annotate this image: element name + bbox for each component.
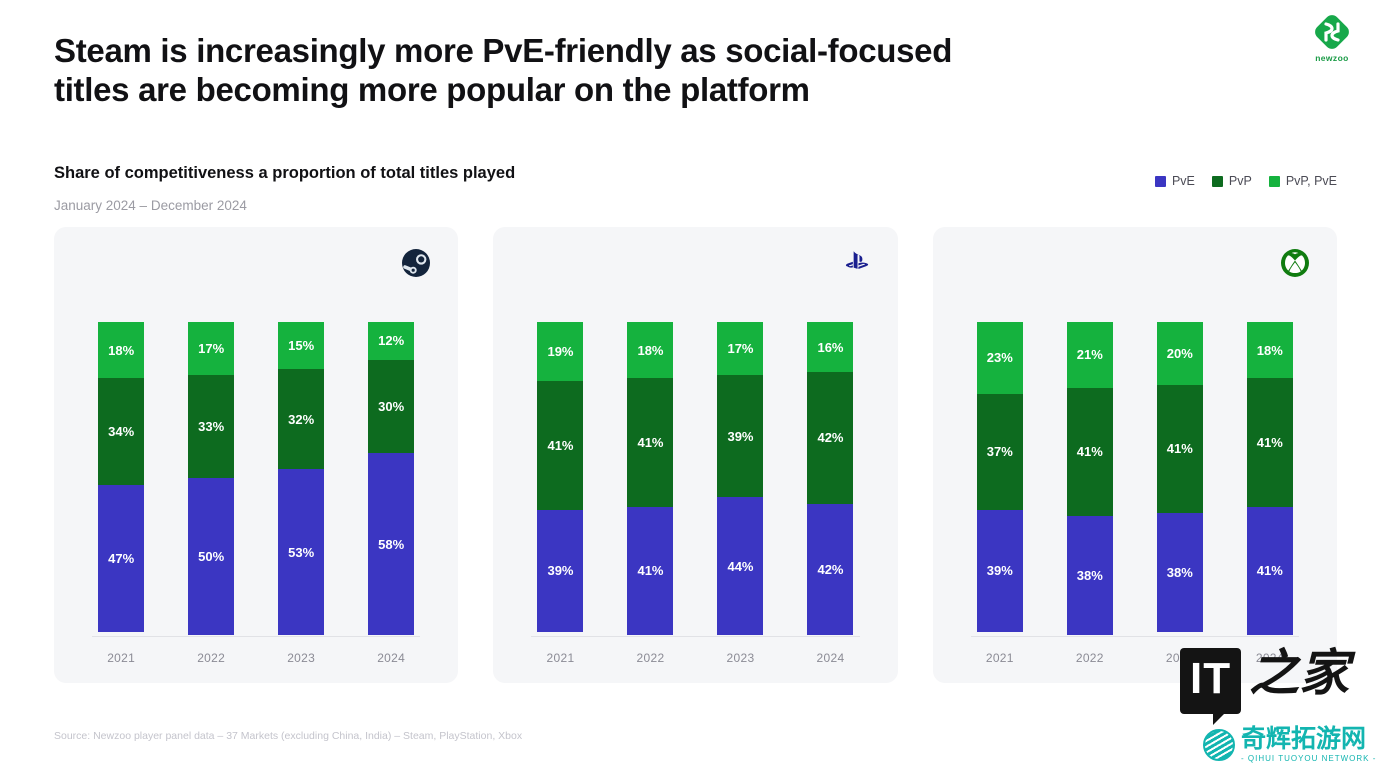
segment-pvp-pve: 23%	[977, 322, 1023, 394]
watermark-zhijia-script: 之家	[1249, 648, 1349, 698]
bar-group[interactable]: 18% 34% 47%	[98, 322, 144, 635]
segment-pve: 39%	[977, 510, 1023, 632]
legend-label: PvP	[1229, 174, 1252, 188]
stacked-bar: 19% 41% 39%	[537, 322, 583, 635]
x-tick-label: 2021	[98, 651, 144, 665]
stacked-bar: 17% 39% 44%	[717, 322, 763, 635]
x-tick-label: 2022	[627, 651, 673, 665]
segment-pve: 42%	[807, 504, 853, 635]
newzoo-mark-icon	[1312, 12, 1352, 52]
x-tick-label: 2024	[807, 651, 853, 665]
watermark-qihui: 奇辉拓游网 - QIHUI TUOYOU NETWORK -	[1203, 727, 1376, 763]
x-axis-line	[531, 636, 859, 637]
segment-pvp: 39%	[717, 375, 763, 497]
stacked-bar: 18% 41% 41%	[627, 322, 673, 635]
segment-pvp-pve: 17%	[717, 322, 763, 375]
segment-pvp-pve: 18%	[627, 322, 673, 378]
legend-item-pvp-pve[interactable]: PvP, PvE	[1269, 174, 1337, 188]
stacked-bar: 12% 30% 58%	[368, 322, 414, 635]
panel-xbox: 23% 37% 39% 21% 41% 38% 20% 41%	[933, 227, 1337, 683]
stacked-bar: 18% 34% 47%	[98, 322, 144, 635]
segment-pvp-pve: 18%	[1247, 322, 1293, 378]
segment-pvp-pve: 20%	[1157, 322, 1203, 385]
x-tick-label: 2021	[537, 651, 583, 665]
bar-group[interactable]: 23% 37% 39%	[977, 322, 1023, 635]
source-note: Source: Newzoo player panel data – 37 Ma…	[54, 730, 522, 742]
chart-panels: 18% 34% 47% 17% 33% 50% 15% 32%	[54, 227, 1337, 683]
segment-pvp: 41%	[537, 381, 583, 509]
bar-group[interactable]: 18% 41% 41%	[627, 322, 673, 635]
stacked-bar: 23% 37% 39%	[977, 322, 1023, 635]
newzoo-wordmark: newzoo	[1304, 53, 1360, 63]
x-tick-label: 2023	[278, 651, 324, 665]
bar-group[interactable]: 21% 41% 38%	[1067, 322, 1113, 635]
square-swatch-icon	[1269, 176, 1280, 187]
chart-daterange: January 2024 – December 2024	[54, 198, 247, 213]
segment-pvp: 32%	[278, 369, 324, 469]
plot-area-steam: 18% 34% 47% 17% 33% 50% 15% 32%	[54, 299, 458, 635]
bar-group[interactable]: 15% 32% 53%	[278, 322, 324, 635]
panel-playstation: 19% 41% 39% 18% 41% 41% 17% 39%	[493, 227, 897, 683]
bar-group[interactable]: 20% 41% 38%	[1157, 322, 1203, 635]
qihui-globe-icon	[1203, 729, 1235, 761]
segment-pvp: 41%	[1067, 388, 1113, 516]
segment-pvp-pve: 15%	[278, 322, 324, 369]
segment-pvp: 30%	[368, 360, 414, 454]
x-tick-label: 2022	[1067, 651, 1113, 665]
stacked-bar: 15% 32% 53%	[278, 322, 324, 635]
x-axis-labels: 2021 2022 2023 2024	[493, 651, 897, 665]
segment-pve: 38%	[1157, 513, 1203, 632]
bar-group[interactable]: 17% 33% 50%	[188, 322, 234, 635]
chart-subtitle: Share of competitiveness a proportion of…	[54, 164, 515, 183]
stacked-bar: 21% 41% 38%	[1067, 322, 1113, 635]
stacked-bar: 16% 42% 42%	[807, 322, 853, 635]
watermark-it-badge: IT	[1180, 648, 1241, 714]
segment-pve: 39%	[537, 510, 583, 632]
xbox-logo-icon	[1281, 249, 1309, 277]
segment-pvp: 37%	[977, 394, 1023, 510]
title-line-2: titles are becoming more popular on the …	[54, 71, 1104, 110]
segment-pvp: 41%	[627, 378, 673, 506]
playstation-logo-icon	[842, 249, 870, 277]
segment-pvp: 41%	[1247, 378, 1293, 506]
plot-area-xbox: 23% 37% 39% 21% 41% 38% 20% 41%	[933, 299, 1337, 635]
steam-logo-icon	[402, 249, 430, 277]
segment-pvp-pve: 19%	[537, 322, 583, 381]
page-title: Steam is increasingly more PvE-friendly …	[54, 32, 1104, 110]
x-axis-labels: 2021 2022 2023 2024	[54, 651, 458, 665]
newzoo-logo: newzoo	[1304, 12, 1360, 62]
bar-group[interactable]: 18% 41% 41%	[1247, 322, 1293, 635]
segment-pvp: 34%	[98, 378, 144, 484]
segment-pve: 50%	[188, 478, 234, 635]
segment-pvp: 33%	[188, 375, 234, 478]
segment-pvp-pve: 12%	[368, 322, 414, 360]
legend-item-pve[interactable]: PvE	[1155, 174, 1195, 188]
segment-pvp: 42%	[807, 372, 853, 503]
x-tick-label: 2022	[188, 651, 234, 665]
segment-pvp-pve: 21%	[1067, 322, 1113, 388]
segment-pvp-pve: 18%	[98, 322, 144, 378]
legend-label: PvP, PvE	[1286, 174, 1337, 188]
bar-group[interactable]: 17% 39% 44%	[717, 322, 763, 635]
segment-pve: 38%	[1067, 516, 1113, 635]
bar-group[interactable]: 12% 30% 58%	[368, 322, 414, 635]
segment-pvp-pve: 17%	[188, 322, 234, 375]
segment-pve: 41%	[1247, 507, 1293, 635]
segment-pvp-pve: 16%	[807, 322, 853, 372]
qihui-name-cn: 奇辉拓游网	[1241, 727, 1376, 752]
segment-pve: 58%	[368, 453, 414, 635]
legend-item-pvp[interactable]: PvP	[1212, 174, 1252, 188]
slide-root: Steam is increasingly more PvE-friendly …	[0, 0, 1387, 775]
x-axis-line	[92, 636, 420, 637]
stacked-bar: 18% 41% 41%	[1247, 322, 1293, 635]
legend-label: PvE	[1172, 174, 1195, 188]
segment-pvp: 41%	[1157, 385, 1203, 513]
bar-group[interactable]: 19% 41% 39%	[537, 322, 583, 635]
x-tick-label: 2021	[977, 651, 1023, 665]
x-tick-label: 2024	[368, 651, 414, 665]
watermark-itjia: IT 之家	[1180, 648, 1349, 714]
title-line-1: Steam is increasingly more PvE-friendly …	[54, 32, 1104, 71]
square-swatch-icon	[1155, 176, 1166, 187]
square-swatch-icon	[1212, 176, 1223, 187]
plot-area-playstation: 19% 41% 39% 18% 41% 41% 17% 39%	[493, 299, 897, 635]
segment-pve: 53%	[278, 469, 324, 635]
stacked-bar: 17% 33% 50%	[188, 322, 234, 635]
segment-pve: 47%	[98, 485, 144, 632]
qihui-name-en: - QIHUI TUOYOU NETWORK -	[1241, 754, 1376, 763]
segment-pve: 41%	[627, 507, 673, 635]
stacked-bar: 20% 41% 38%	[1157, 322, 1203, 635]
x-tick-label: 2023	[717, 651, 763, 665]
bar-group[interactable]: 16% 42% 42%	[807, 322, 853, 635]
chart-legend: PvE PvP PvP, PvE	[1155, 174, 1337, 188]
segment-pve: 44%	[717, 497, 763, 635]
x-axis-line	[971, 636, 1299, 637]
panel-steam: 18% 34% 47% 17% 33% 50% 15% 32%	[54, 227, 458, 683]
qihui-text: 奇辉拓游网 - QIHUI TUOYOU NETWORK -	[1241, 727, 1376, 763]
